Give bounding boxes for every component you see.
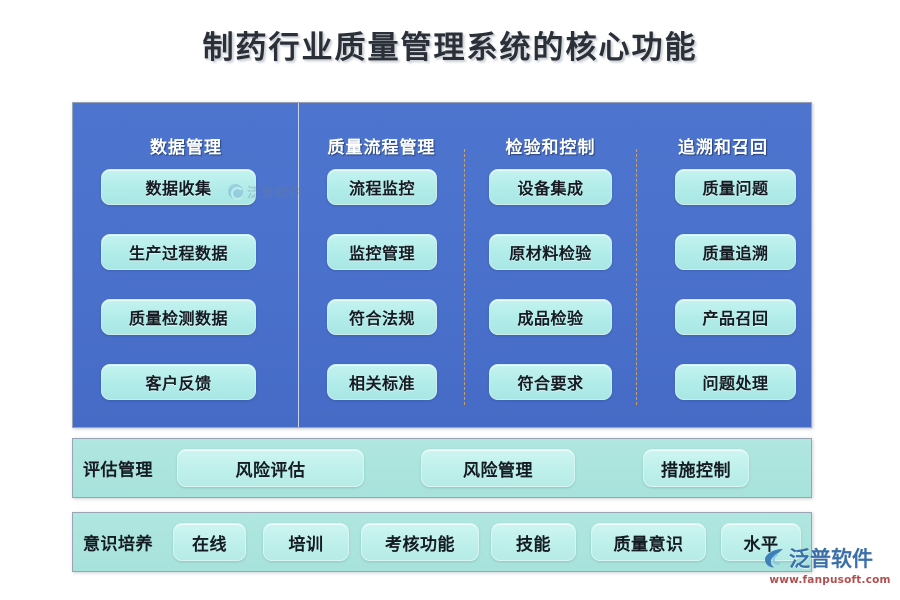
column-header: 数据管理 — [81, 133, 291, 158]
panel-column-data-management: 数据管理 数据收集 生产过程数据 质量检测数据 客户反馈 — [81, 103, 291, 427]
awareness-training-bar: 意识培养 在线 培训 考核功能 技能 质量意识 水平 — [72, 512, 812, 572]
brand-logo-url: www.fanpusoft.com — [762, 574, 898, 586]
bar-chip[interactable]: 培训 — [263, 523, 349, 561]
feature-chip[interactable]: 质量检测数据 — [101, 299, 256, 335]
core-functions-panel: 数据管理 数据收集 生产过程数据 质量检测数据 客户反馈 质量流程管理 流程监控… — [72, 102, 812, 428]
feature-chip[interactable]: 设备集成 — [489, 169, 612, 205]
feature-chip[interactable]: 客户反馈 — [101, 364, 256, 400]
assessment-management-bar: 评估管理 风险评估 风险管理 措施控制 — [72, 438, 812, 498]
feature-chip[interactable]: 生产过程数据 — [101, 234, 256, 270]
feature-chip[interactable]: 质量追溯 — [675, 234, 796, 270]
page-title: 制药行业质量管理系统的核心功能 — [0, 22, 900, 67]
feature-chip[interactable]: 成品检验 — [489, 299, 612, 335]
panel-column-traceability-and-recall: 追溯和召回 质量问题 质量追溯 产品召回 问题处理 — [637, 103, 809, 427]
column-header: 质量流程管理 — [299, 133, 464, 158]
column-header: 追溯和召回 — [637, 133, 809, 158]
bar-label: 意识培养 — [83, 530, 153, 555]
feature-chip[interactable]: 问题处理 — [675, 364, 796, 400]
bar-chip[interactable]: 风险评估 — [177, 449, 364, 487]
bar-chip[interactable]: 质量意识 — [591, 523, 706, 561]
feature-chip[interactable]: 原材料检验 — [489, 234, 612, 270]
column-header: 检验和控制 — [465, 133, 636, 158]
feature-chip[interactable]: 符合法规 — [327, 299, 437, 335]
bar-chip[interactable]: 技能 — [491, 523, 576, 561]
feature-chip[interactable]: 监控管理 — [327, 234, 437, 270]
bar-chip[interactable]: 水平 — [721, 523, 801, 561]
feature-chip[interactable]: 流程监控 — [327, 169, 437, 205]
bar-chip[interactable]: 风险管理 — [421, 449, 575, 487]
panel-column-quality-process-management: 质量流程管理 流程监控 监控管理 符合法规 相关标准 — [299, 103, 464, 427]
feature-chip[interactable]: 相关标准 — [327, 364, 437, 400]
feature-chip[interactable]: 质量问题 — [675, 169, 796, 205]
bar-chip[interactable]: 措施控制 — [643, 449, 749, 487]
feature-chip[interactable]: 符合要求 — [489, 364, 612, 400]
bar-label: 评估管理 — [83, 456, 153, 481]
feature-chip[interactable]: 数据收集 — [101, 169, 256, 205]
bar-chip[interactable]: 考核功能 — [361, 523, 479, 561]
bar-chip[interactable]: 在线 — [173, 523, 246, 561]
feature-chip[interactable]: 产品召回 — [675, 299, 796, 335]
panel-column-inspection-and-control: 检验和控制 设备集成 原材料检验 成品检验 符合要求 — [465, 103, 636, 427]
